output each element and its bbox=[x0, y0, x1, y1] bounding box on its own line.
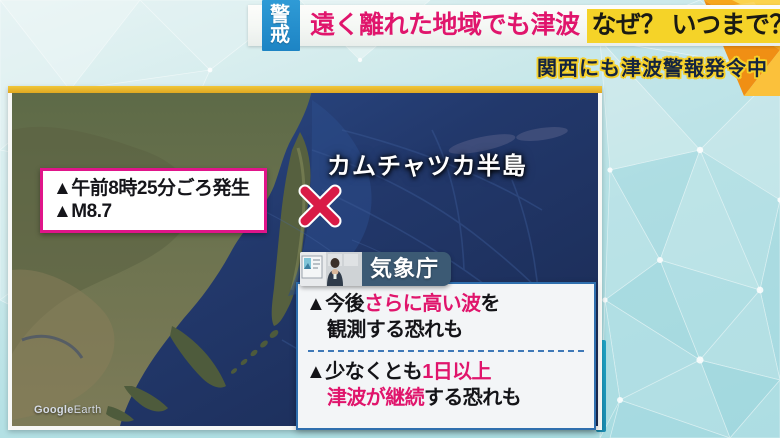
jma-bullet-1-line-2: 観測する恐れも bbox=[306, 318, 586, 344]
jma-bullet-1: ▲今後さらに高い波を 観測する恐れも bbox=[306, 292, 586, 343]
google-wordmark: Google bbox=[34, 404, 74, 416]
quake-info-box: ▲午前8時25分ごろ発生 ▲M8.7 bbox=[40, 168, 267, 233]
jma-label: 気象庁 bbox=[362, 252, 451, 286]
seg-text: 観測する恐れも bbox=[327, 319, 463, 341]
broadcast-graphic: 警戒 遠く離れた地域でも津波 なぜ？ いつまで？ 関西にも津波警報発令中 bbox=[0, 0, 780, 438]
jma-bullet-2-line-2: 津波が継続する恐れも bbox=[306, 386, 586, 412]
headline-banner: 警戒 遠く離れた地域でも津波 なぜ？ いつまで？ bbox=[248, 5, 780, 46]
map-place-label: カムチャツカ半島 bbox=[327, 146, 527, 181]
seg-text: ▲今後 bbox=[306, 293, 364, 315]
jma-statement-panel: ▲今後さらに高い波を 観測する恐れも ▲少なくとも1日以上 津波が継続する恐れも bbox=[296, 282, 596, 430]
sub-headline: 関西にも津波警報発令中 bbox=[537, 52, 768, 81]
epicenter-x-icon bbox=[296, 182, 344, 230]
jma-bullet-2-line-1: ▲少なくとも1日以上 bbox=[306, 360, 586, 386]
headline-text: 遠く離れた地域でも津波 bbox=[310, 13, 580, 38]
seg-text: する恐れも bbox=[424, 387, 521, 409]
seg-text-pink: 1日以上 bbox=[422, 361, 491, 383]
press-conference-thumbnail bbox=[300, 252, 362, 286]
map-top-gold-edge bbox=[8, 86, 602, 93]
seg-text-pink: 津波が継続 bbox=[327, 387, 424, 409]
seg-text-pink: さらに高い波 bbox=[364, 293, 480, 315]
jma-bullet-2: ▲少なくとも1日以上 津波が継続する恐れも bbox=[306, 360, 586, 411]
alert-badge: 警戒 bbox=[262, 0, 300, 51]
quake-magnitude-line: ▲M8.7 bbox=[53, 200, 250, 223]
map-attribution: GoogleEarth bbox=[34, 404, 102, 416]
panel-divider bbox=[308, 350, 584, 352]
jma-bullet-1-line-1: ▲今後さらに高い波を bbox=[306, 292, 586, 318]
seg-text: ▲少なくとも bbox=[306, 361, 422, 383]
jma-source-tab: 気象庁 bbox=[300, 252, 451, 286]
headline-highlight: なぜ？ いつまで？ bbox=[587, 9, 780, 43]
seg-text: を bbox=[480, 293, 499, 315]
earth-wordmark: Earth bbox=[74, 404, 102, 416]
quake-time-line: ▲午前8時25分ごろ発生 bbox=[53, 177, 250, 200]
